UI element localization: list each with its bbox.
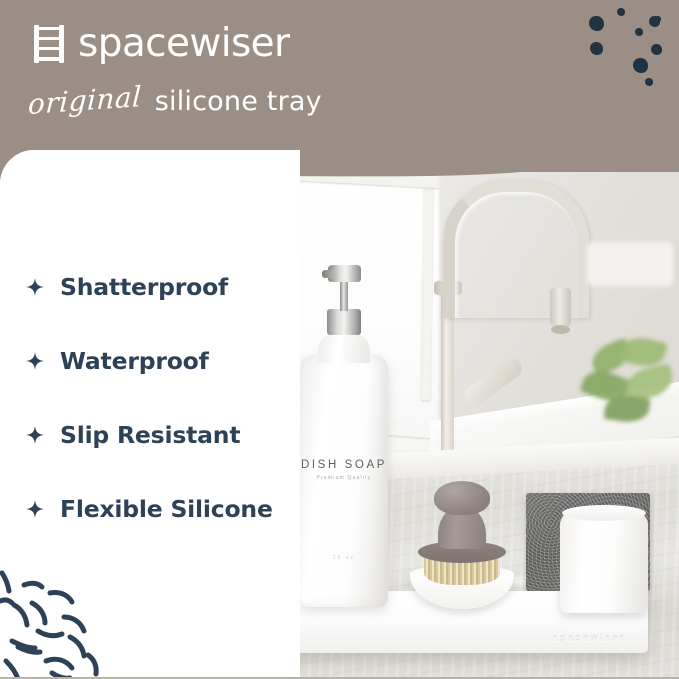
bottle-label-main: DISH SOAP bbox=[300, 459, 388, 471]
feature-item: Slip Resistant bbox=[26, 398, 290, 472]
bottle-shoulder bbox=[318, 333, 370, 363]
product-title: silicone tray bbox=[155, 86, 322, 117]
pump-collar bbox=[327, 309, 361, 335]
pump-stem bbox=[340, 279, 348, 311]
sponge-holder-cup bbox=[560, 511, 648, 613]
sparkle-star-icon bbox=[26, 426, 44, 444]
sparkle-star-icon bbox=[26, 352, 44, 370]
content-panel-top-fill bbox=[0, 150, 252, 190]
shelf-rack-icon bbox=[34, 25, 64, 63]
feature-item: Shatterproof bbox=[26, 250, 290, 324]
bottle-volume-mark: 16 oz bbox=[300, 555, 388, 561]
sparkle-star-icon bbox=[26, 278, 44, 296]
brand-lockup: spacewiser bbox=[34, 24, 290, 63]
product-photo: spacewiser DISH SOAP Premium Quality 16 … bbox=[238, 150, 679, 679]
feature-item: Waterproof bbox=[26, 324, 290, 398]
tray-emboss-logo: spacewiser bbox=[552, 633, 626, 643]
feature-label: Slip Resistant bbox=[60, 421, 240, 449]
bottle-label-sub: Premium Quality bbox=[300, 475, 388, 481]
bottle-label: DISH SOAP Premium Quality bbox=[300, 459, 388, 481]
sponge-holder-cup-rim bbox=[562, 505, 646, 521]
top-right-dot-decoration bbox=[589, 0, 679, 110]
faucet-spout bbox=[550, 288, 571, 328]
product-marketing-image: spacewiser DISH SOAP Premium Quality 16 … bbox=[0, 0, 679, 679]
feature-label: Flexible Silicone bbox=[60, 495, 273, 523]
product-subtitle-row: original silicone tray bbox=[28, 84, 322, 117]
bottom-left-crescent-decoration bbox=[0, 551, 175, 679]
pump-nozzle bbox=[322, 270, 334, 278]
script-word-original: original bbox=[27, 80, 142, 121]
feature-label: Waterproof bbox=[60, 347, 209, 375]
dish-soap-dispenser: DISH SOAP Premium Quality 16 oz bbox=[300, 355, 388, 607]
feature-list: Shatterproof Waterproof Slip Resistant F… bbox=[26, 250, 290, 546]
brush-knob-handle bbox=[434, 481, 490, 515]
potted-plant bbox=[577, 338, 679, 448]
feature-label: Shatterproof bbox=[60, 273, 228, 301]
brand-name: spacewiser bbox=[78, 24, 290, 63]
sparkle-star-icon bbox=[26, 500, 44, 518]
plant-pot bbox=[587, 242, 673, 286]
feature-item: Flexible Silicone bbox=[26, 472, 290, 546]
